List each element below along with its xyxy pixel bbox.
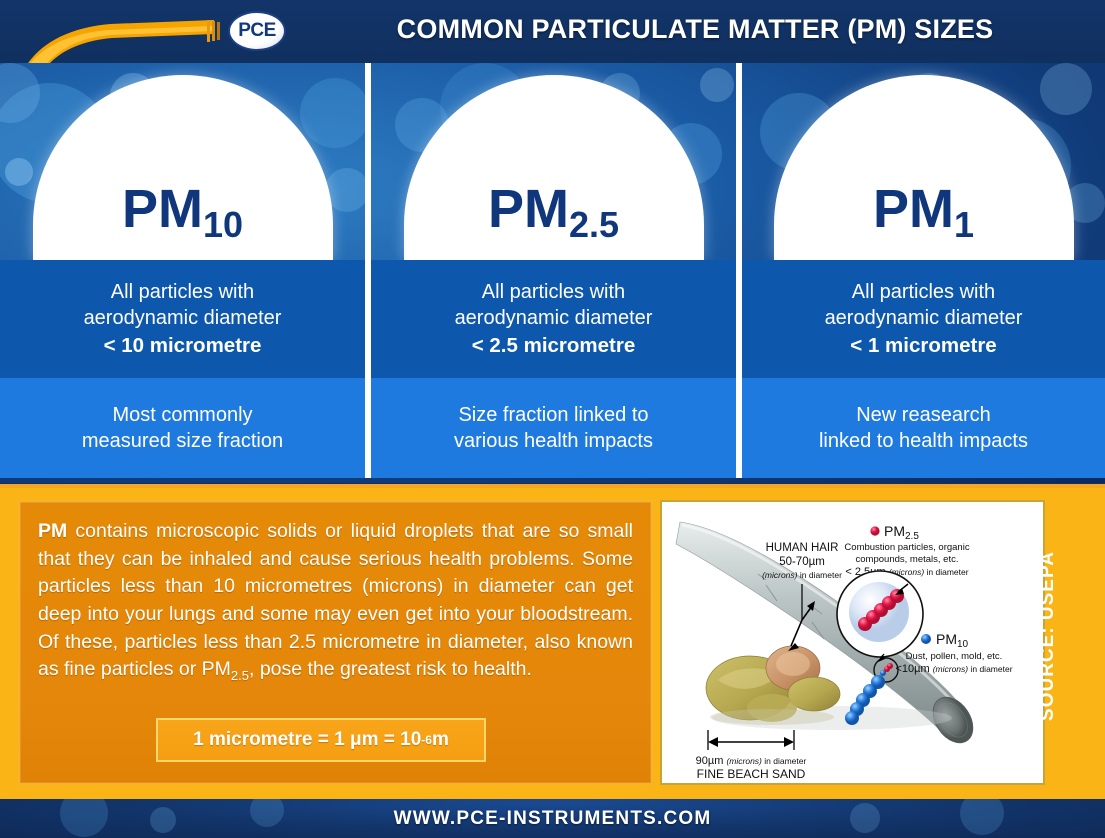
- pm-label-sub: 2.5: [569, 204, 619, 245]
- note-line-1: Most commonly: [112, 402, 252, 428]
- svg-text:50-70µm: 50-70µm: [779, 556, 825, 568]
- card-description: All particles with aerodynamic diameter …: [371, 260, 736, 378]
- source-attribution: SOURCE: USEPA: [1037, 551, 1059, 721]
- card-description: All particles with aerodynamic diameter …: [0, 260, 365, 378]
- pm-card-pm1[interactable]: PM1 All particles with aerodynamic diame…: [742, 63, 1105, 478]
- card-dome-area: PM10: [0, 63, 365, 260]
- epa-size-comparison-image: HUMAN HAIR 50-70µm (microns) in diameter…: [660, 500, 1045, 785]
- desc-line-3: < 2.5 micrometre: [472, 332, 636, 359]
- pm-label-main: PM: [122, 179, 203, 239]
- note-line-1: Size fraction linked to: [458, 402, 648, 428]
- pm-paragraph-sub: 2.5: [231, 668, 249, 683]
- svg-text:<10µm (microns) in diameter: <10µm (microns) in diameter: [895, 663, 1012, 675]
- header-bar: PCE COMMON PARTICULATE MATTER (PM) SIZES: [0, 0, 1105, 63]
- pm-label-main: PM: [873, 179, 954, 239]
- card-dome-area: PM2.5: [371, 63, 736, 260]
- pm-label-main: PM: [488, 179, 569, 239]
- pm-label-sub: 10: [203, 204, 243, 245]
- pm-paragraph-tail: , pose the greatest risk to health.: [249, 658, 532, 680]
- svg-text:(microns) in diameter: (microns) in diameter: [762, 570, 842, 580]
- desc-line-1: All particles with: [111, 279, 254, 305]
- footer-bar: WWW.PCE-INSTRUMENTS.COM: [0, 799, 1105, 838]
- svg-text:FINE BEACH SAND: FINE BEACH SAND: [697, 767, 806, 781]
- pm-label-sub: 1: [954, 204, 974, 245]
- epa-diagram-svg: HUMAN HAIR 50-70µm (microns) in diameter…: [662, 502, 1043, 783]
- desc-line-1: All particles with: [852, 279, 995, 305]
- desc-line-3: < 1 micrometre: [850, 332, 996, 359]
- desc-line-3: < 10 micrometre: [104, 332, 262, 359]
- desc-line-2: aerodynamic diameter: [84, 305, 282, 331]
- note-line-2: linked to health impacts: [819, 428, 1028, 454]
- card-note: Size fraction linked to various health i…: [371, 378, 736, 478]
- pm-card-pm25[interactable]: PM2.5 All particles with aerodynamic dia…: [371, 63, 736, 478]
- orange-info-section: PM contains microscopic solids or liquid…: [0, 484, 1105, 799]
- pm-paragraph: contains microscopic solids or liquid dr…: [38, 520, 633, 680]
- logo-bars-icon: [207, 18, 223, 44]
- card-note: Most commonly measured size fraction: [0, 378, 365, 478]
- desc-line-1: All particles with: [482, 279, 625, 305]
- dome-shape: PM2.5: [404, 75, 704, 260]
- pce-logo: PCE: [228, 11, 286, 51]
- infographic-poster: PCE COMMON PARTICULATE MATTER (PM) SIZES: [0, 0, 1105, 838]
- note-line-2: various health impacts: [454, 428, 653, 454]
- formula-post: m: [432, 729, 449, 751]
- formula-pre: 1 micrometre = 1 μm = 10: [193, 729, 421, 751]
- pm-cards-row: PM10 All particles with aerodynamic diam…: [0, 63, 1105, 478]
- svg-text:compounds, metals, etc.: compounds, metals, etc.: [856, 554, 959, 565]
- note-line-2: measured size fraction: [82, 428, 283, 454]
- micrometre-formula-box: 1 micrometre = 1 μm = 10-6 m: [156, 718, 486, 762]
- formula-exponent: -6: [421, 733, 432, 747]
- desc-line-2: aerodynamic diameter: [455, 305, 653, 331]
- pm-description-text: PM contains microscopic solids or liquid…: [38, 518, 633, 686]
- pm-label: PM2.5: [488, 182, 619, 260]
- website-url[interactable]: WWW.PCE-INSTRUMENTS.COM: [394, 808, 712, 830]
- epa-hair-label: HUMAN HAIR: [766, 542, 839, 554]
- card-description: All particles with aerodynamic diameter …: [742, 260, 1105, 378]
- page-title: COMMON PARTICULATE MATTER (PM) SIZES: [300, 14, 1090, 45]
- svg-text:90µm (microns) in diameter: 90µm (microns) in diameter: [696, 755, 807, 767]
- note-line-1: New reasearch: [856, 402, 991, 428]
- svg-text:Dust, pollen, mold, etc.: Dust, pollen, mold, etc.: [906, 651, 1003, 662]
- svg-text:Combustion particles, organic: Combustion particles, organic: [844, 542, 969, 553]
- pm-lead: PM: [38, 520, 67, 542]
- pm-label: PM1: [873, 182, 974, 260]
- card-dome-area: PM1: [742, 63, 1105, 260]
- pce-logo-text: PCE: [238, 20, 276, 42]
- pm-card-pm10[interactable]: PM10 All particles with aerodynamic diam…: [0, 63, 365, 478]
- pm-label: PM10: [122, 182, 243, 260]
- dome-shape: PM1: [774, 75, 1074, 260]
- card-note: New reasearch linked to health impacts: [742, 378, 1105, 478]
- desc-line-2: aerodynamic diameter: [825, 305, 1023, 331]
- dome-shape: PM10: [33, 75, 333, 260]
